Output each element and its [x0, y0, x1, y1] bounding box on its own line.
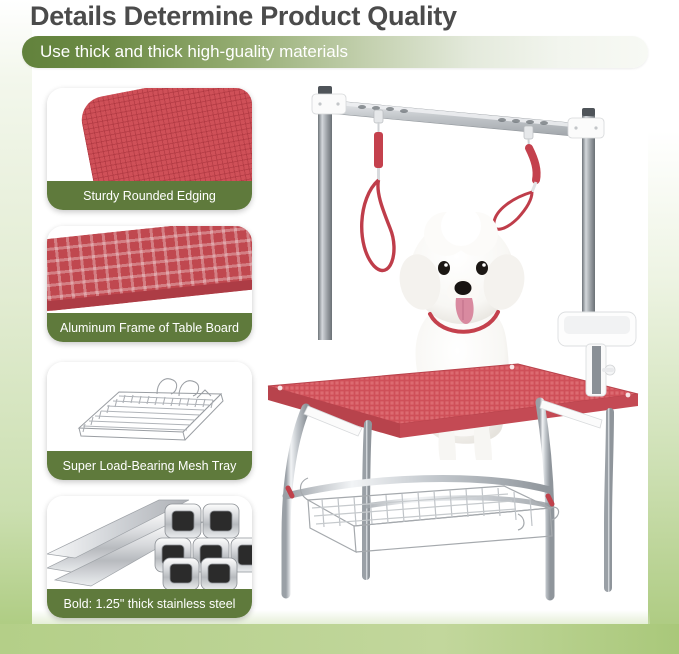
feature-label: Sturdy Rounded Edging	[47, 181, 252, 210]
feature-label: Bold: 1.25" thick stainless steel	[47, 589, 252, 618]
feature-label: Super Load-Bearing Mesh Tray	[47, 451, 252, 480]
feature-card-mesh-tray[interactable]: Super Load-Bearing Mesh Tray	[47, 362, 252, 480]
feature-card-stainless-steel[interactable]: Bold: 1.25" thick stainless steel	[47, 496, 252, 618]
product-illustration-grooming-table	[250, 76, 650, 621]
feature-card-sturdy-rounded-edging[interactable]: Sturdy Rounded Edging	[47, 88, 252, 210]
feature-label: Aluminum Frame of Table Board	[47, 313, 252, 342]
decorative-bottom-band	[0, 624, 679, 654]
infographic-page: Details Determine Product Quality Use th…	[0, 0, 679, 654]
grooming-loop-left	[362, 110, 394, 270]
page-title: Details Determine Product Quality	[30, 0, 457, 32]
subtitle-text: Use thick and thick high-guality materia…	[40, 41, 348, 63]
red-textured-tabletop	[268, 364, 638, 438]
decorative-left-strip	[0, 0, 32, 654]
feature-card-aluminum-frame[interactable]: Aluminum Frame of Table Board	[47, 226, 252, 342]
decorative-right-strip	[648, 0, 679, 654]
